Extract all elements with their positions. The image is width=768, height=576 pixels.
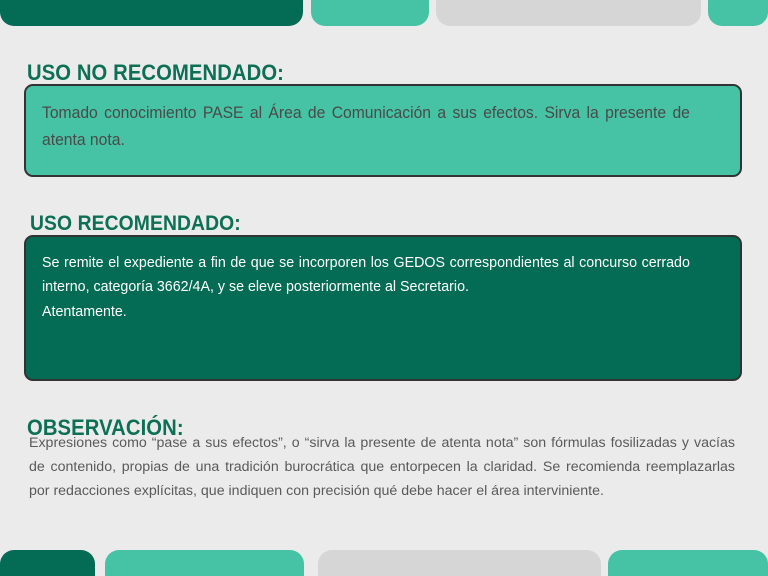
slide-content: USO NO RECOMENDADO: Tomado conocimiento …	[0, 26, 768, 550]
not-recommended-example-box: Tomado conocimiento PASE al Área de Comu…	[24, 84, 742, 177]
top-bar-dark-green	[0, 0, 303, 26]
top-tab-strip	[0, 0, 768, 26]
recommended-example-text-line-1: Se remite el expediente a fin de que se …	[42, 251, 690, 300]
observation-text: Expresiones como “pase a sus efectos”, o…	[29, 432, 735, 504]
heading-recommended: USO RECOMENDADO:	[30, 212, 241, 236]
recommended-example-box: Se remite el expediente a fin de que se …	[24, 235, 742, 381]
bottom-bar-teal-right	[608, 550, 768, 576]
heading-not-recommended: USO NO RECOMENDADO:	[27, 60, 284, 86]
not-recommended-example-text: Tomado conocimiento PASE al Área de Comu…	[42, 100, 690, 153]
bottom-tab-strip	[0, 550, 768, 576]
top-bar-teal	[311, 0, 429, 26]
bottom-bar-teal	[105, 550, 304, 576]
bottom-bar-dark-green	[0, 550, 95, 576]
bottom-bar-gray	[318, 550, 601, 576]
top-bar-teal-right	[708, 0, 768, 26]
recommended-example-text-line-2: Atentamente.	[42, 300, 690, 324]
top-bar-gray	[436, 0, 701, 26]
